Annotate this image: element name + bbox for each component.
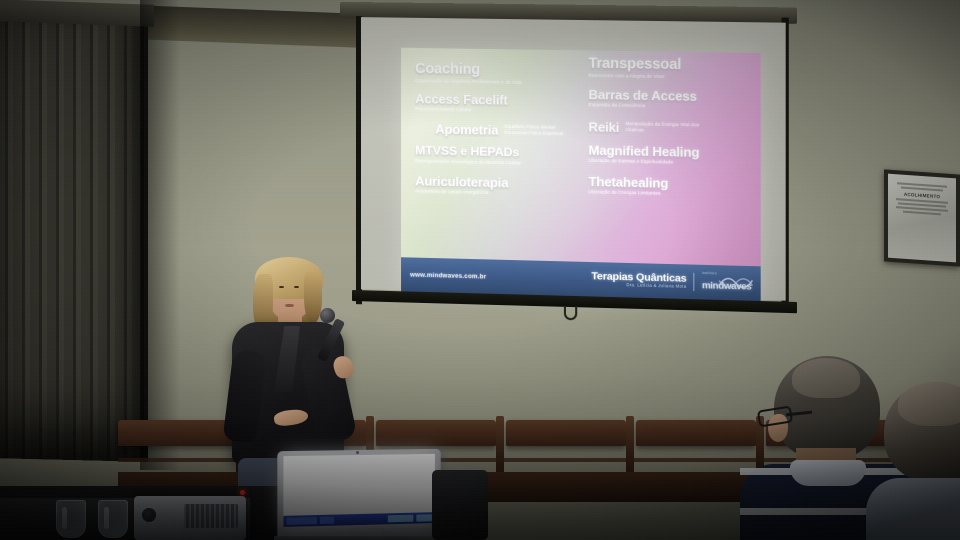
room-photo-scene: ACOLHIMENTO Coaching Organização de Ob [0,0,960,540]
photo-vignette [0,0,960,540]
